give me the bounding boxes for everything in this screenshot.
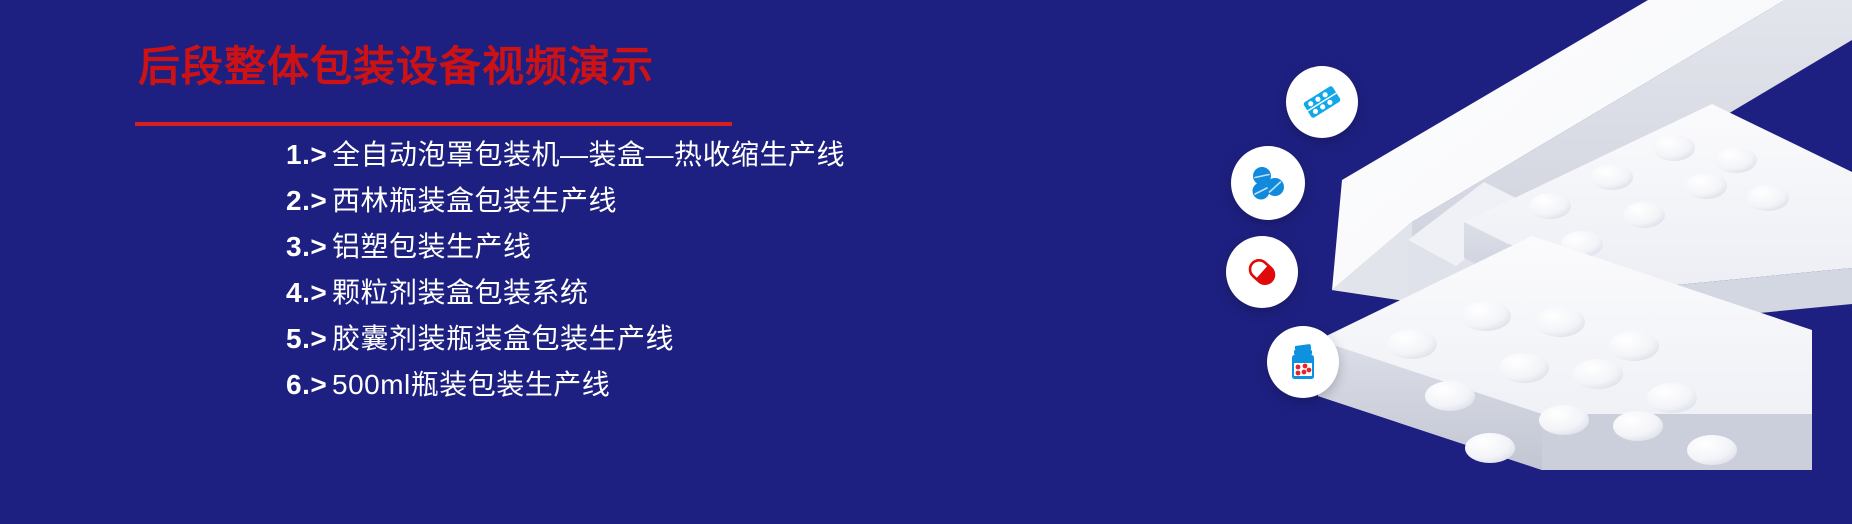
banner-text-block: 后段整体包装设备视频演示 1.> 全自动泡罩包装机—装盒—热收缩生产线 2.> …	[0, 0, 1000, 524]
list-item[interactable]: 3.> 铝塑包装生产线	[286, 225, 986, 271]
blister-pack-icon-bubble	[1286, 66, 1358, 138]
list-item-index: 3.>	[286, 231, 332, 263]
list-item[interactable]: 6.> 500ml瓶装包装生产线	[286, 363, 986, 409]
list-item-label: 500ml瓶装包装生产线	[332, 363, 610, 403]
carton-box-svg	[1112, 0, 1852, 524]
promo-banner: 后段整体包装设备视频演示 1.> 全自动泡罩包装机—装盒—热收缩生产线 2.> …	[0, 0, 1852, 524]
capsule-icon	[1239, 249, 1285, 295]
list-item-label: 胶囊剂装瓶装盒包装生产线	[332, 317, 674, 357]
list-item[interactable]: 4.> 颗粒剂装盒包装系统	[286, 271, 986, 317]
capsule-icon-bubble	[1226, 236, 1298, 308]
list-item-label: 颗粒剂装盒包装系统	[332, 271, 589, 311]
pill-bottle-icon-bubble	[1267, 326, 1339, 398]
list-item[interactable]: 2.> 西林瓶装盒包装生产线	[286, 179, 986, 225]
blister-pack-icon	[1299, 79, 1345, 125]
list-item-label: 西林瓶装盒包装生产线	[332, 179, 617, 219]
list-item[interactable]: 5.> 胶囊剂装瓶装盒包装生产线	[286, 317, 986, 363]
list-item-label: 铝塑包装生产线	[332, 225, 532, 265]
list-item-index: 5.>	[286, 323, 332, 355]
page-title: 后段整体包装设备视频演示	[138, 41, 654, 94]
list-item[interactable]: 1.> 全自动泡罩包装机—装盒—热收缩生产线	[286, 133, 986, 179]
list-item-index: 6.>	[286, 369, 332, 401]
list-item-index: 4.>	[286, 277, 332, 309]
list-item-label: 全自动泡罩包装机—装盒—热收缩生产线	[332, 133, 845, 173]
feature-list: 1.> 全自动泡罩包装机—装盒—热收缩生产线 2.> 西林瓶装盒包装生产线 3.…	[286, 133, 986, 409]
list-item-index: 2.>	[286, 185, 332, 217]
pill-bottle-icon	[1280, 339, 1326, 385]
tablets-icon	[1245, 160, 1291, 206]
title-divider	[135, 122, 732, 126]
tablets-icon-bubble	[1231, 146, 1305, 220]
list-item-index: 1.>	[286, 139, 332, 171]
product-illustration	[1112, 0, 1852, 524]
